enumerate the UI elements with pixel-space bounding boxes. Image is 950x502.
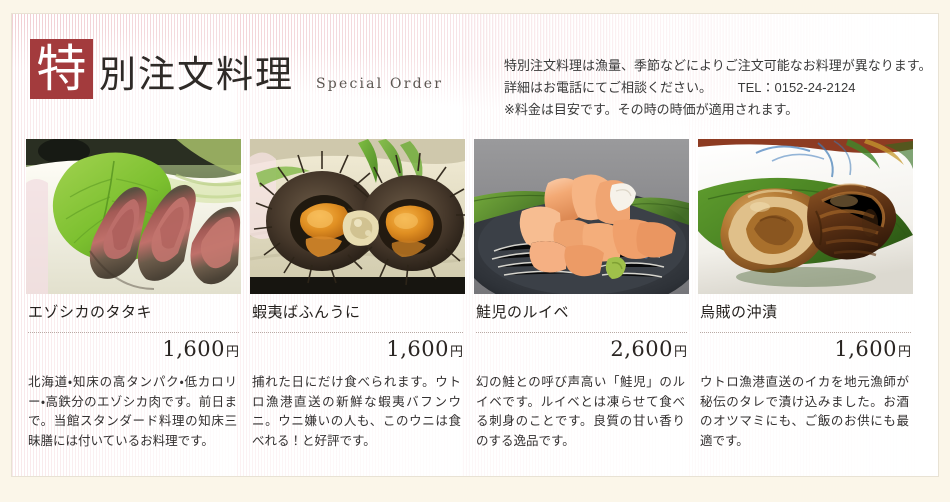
page-header: 特 別注文料理 Special Order 特別注文料理は漁量、季節などによりご… (12, 14, 939, 132)
item-description: 北海道・知床の高タンパク・低カロリー・高鉄分のエゾシカ肉です。前日まで。当館スタ… (26, 361, 241, 451)
item-description: 幻の鮭との呼び声高い「鮭児」のルイベです。ルイベとは凍らせて食べる刺身のことです… (474, 361, 689, 451)
page-root: 特 別注文料理 Special Order 特別注文料理は漁量、季節などによりご… (0, 0, 950, 502)
title-badge-kanji: 特 (30, 39, 93, 99)
header-notice: 特別注文料理は漁量、季節などによりご注文可能なお料理が異なります。 詳細はお電話… (504, 55, 931, 121)
item-price-row: 2,600円 (474, 333, 689, 361)
title-text-english: Special Order (316, 76, 443, 99)
item-currency: 円 (898, 345, 911, 360)
menu-item-salmon-ruibe[interactable]: 鮭児のルイベ 2,600円 幻の鮭との呼び声高い「鮭児」のルイベです。ルイベとは… (474, 139, 689, 451)
page-title: 特 別注文料理 Special Order (30, 39, 443, 99)
item-price: 1,600 (834, 337, 897, 361)
item-name: 烏賊の沖漬 (698, 294, 913, 323)
squid-okizuke-photo (698, 139, 913, 294)
item-name: エゾシカのタタキ (26, 294, 241, 323)
menu-item-venison-tataki[interactable]: エゾシカのタタキ 1,600円 北海道・知床の高タンパク・低カロリー・高鉄分のエ… (26, 139, 241, 451)
item-price-row: 1,600円 (26, 333, 241, 361)
title-text-japanese: 別注文料理 (99, 51, 294, 99)
notice-line-1: 特別注文料理は漁量、季節などによりご注文可能なお料理が異なります。 (504, 55, 931, 77)
phone-number: TEL：0152-24-2124 (738, 80, 856, 95)
item-price-row: 1,600円 (250, 333, 465, 361)
notice-line-2: 詳細はお電話にてご相談ください。 TEL：0152-24-2124 (504, 77, 931, 99)
item-price-row: 1,600円 (698, 333, 913, 361)
item-currency: 円 (674, 345, 687, 360)
item-price: 1,600 (386, 337, 449, 361)
salmon-ruibe-photo (474, 139, 689, 294)
item-description: 捕れた日にだけ食べられます。ウトロ漁港直送の新鮮な蝦夷バフンウニ。ウニ嫌いの人も… (250, 361, 465, 451)
menu-item-sea-urchin[interactable]: 蝦夷ばふんうに 1,600円 捕れた日にだけ食べられます。ウトロ漁港直送の新鮮な… (250, 139, 465, 451)
item-price: 2,600 (610, 337, 673, 361)
item-description: ウトロ漁港直送のイカを地元漁師が秘伝のタレで漬け込みました。お酒のオツマミにも、… (698, 361, 913, 451)
menu-item-squid-okizuke[interactable]: 烏賊の沖漬 1,600円 ウトロ漁港直送のイカを地元漁師が秘伝のタレで漬け込みま… (698, 139, 913, 451)
menu-item-grid: エゾシカのタタキ 1,600円 北海道・知床の高タンパク・低カロリー・高鉄分のエ… (26, 139, 934, 451)
venison-tataki-photo (26, 139, 241, 294)
item-currency: 円 (450, 345, 463, 360)
item-name: 鮭児のルイベ (474, 294, 689, 323)
sea-urchin-photo (250, 139, 465, 294)
item-currency: 円 (226, 345, 239, 360)
notice-line-3: ※料金は目安です。その時の時価が適用されます。 (504, 99, 931, 121)
content-panel: 特 別注文料理 Special Order 特別注文料理は漁量、季節などによりご… (11, 13, 939, 477)
item-price: 1,600 (162, 337, 225, 361)
item-name: 蝦夷ばふんうに (250, 294, 465, 323)
notice-line-2-text: 詳細はお電話にてご相談ください。 (504, 80, 712, 95)
